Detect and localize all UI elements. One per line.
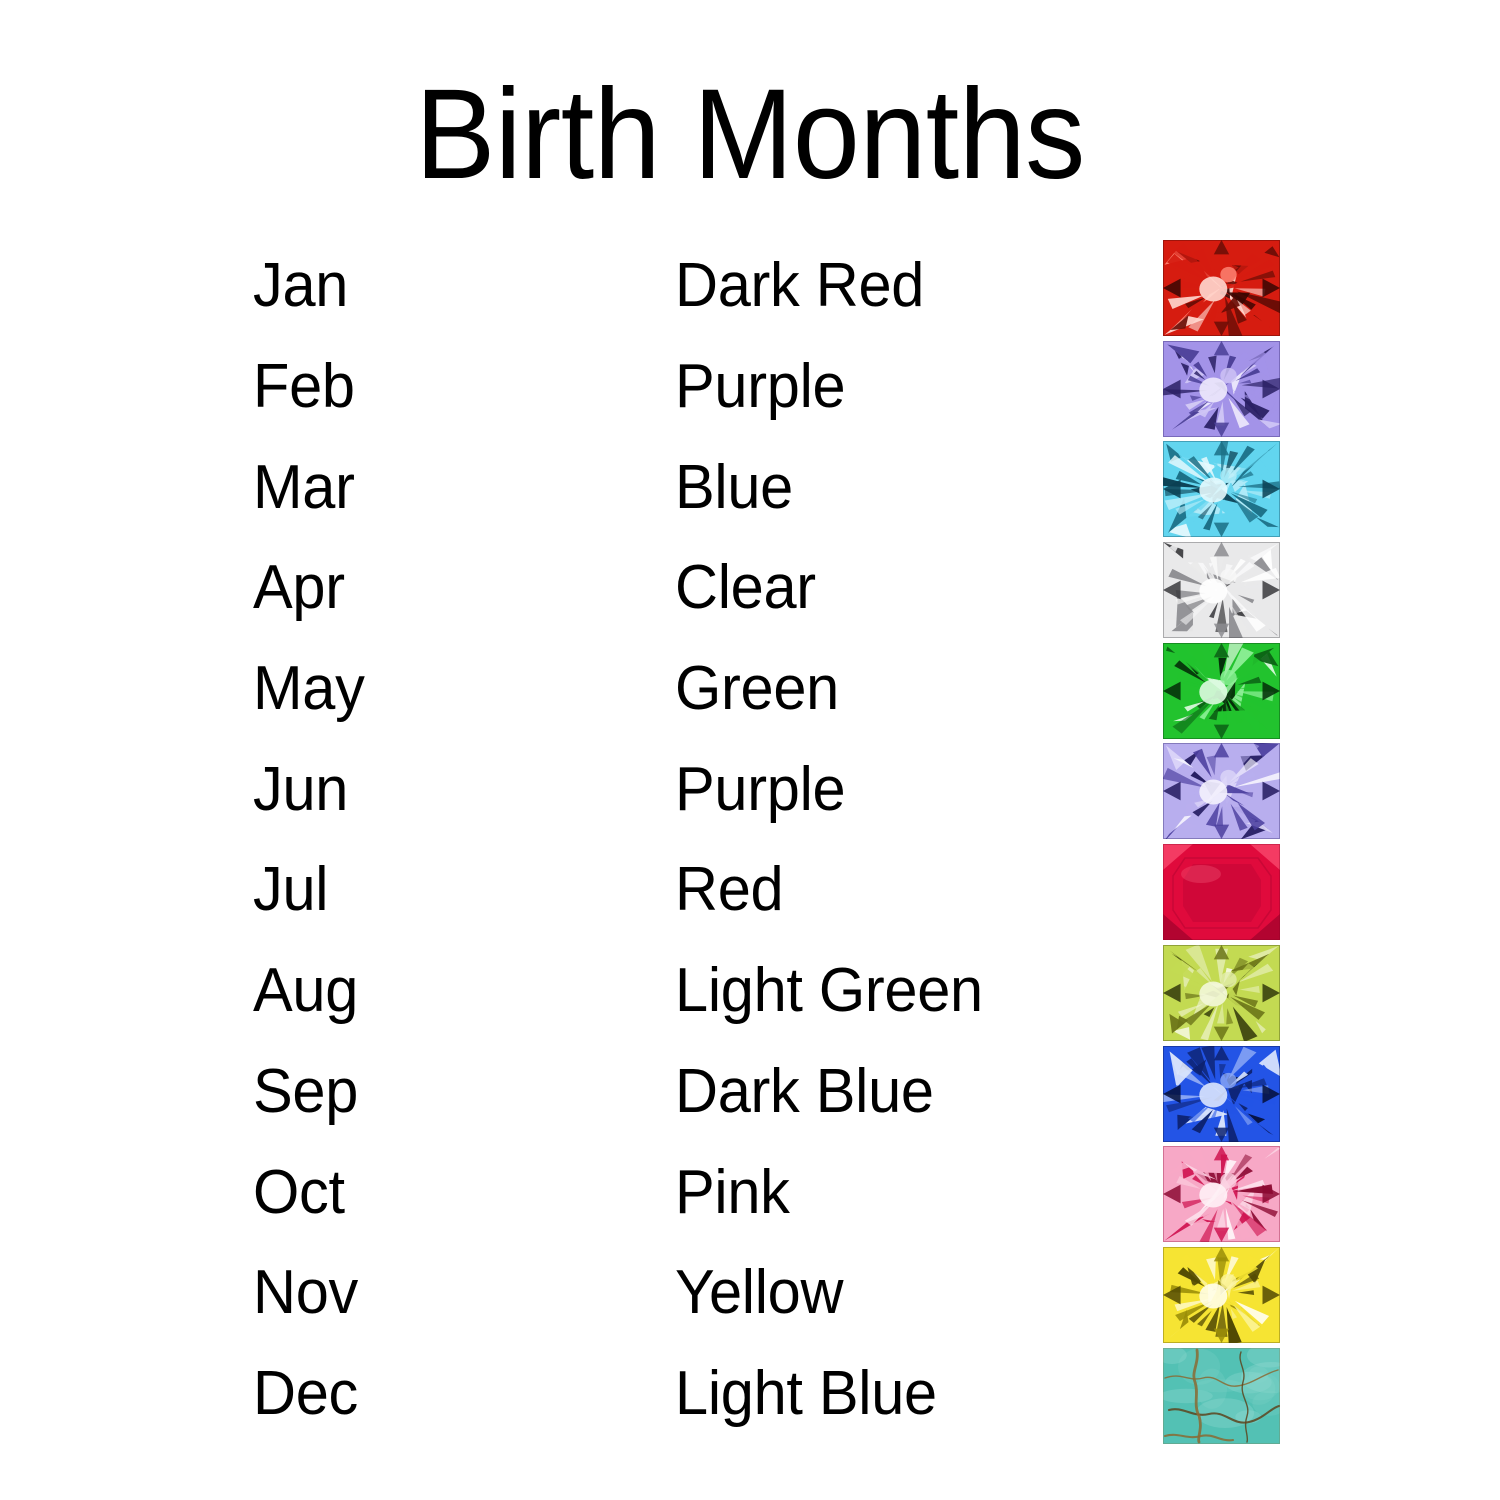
- color-label: Red: [675, 840, 783, 941]
- table-row: MayGreen: [0, 639, 1500, 740]
- table-row: AprClear: [0, 538, 1500, 639]
- table-row: JunPurple: [0, 739, 1500, 840]
- birth-months-table: JanDark RedFebPurpleMarBlueAprClearMayGr…: [0, 236, 1500, 1444]
- month-label: Mar: [253, 437, 355, 538]
- table-row: JulRed: [0, 840, 1500, 941]
- page-title: Birth Months: [45, 68, 1455, 202]
- color-label: Purple: [675, 739, 845, 840]
- month-label: Sep: [253, 1042, 358, 1143]
- citrine-gem-icon: [1163, 1247, 1280, 1343]
- color-label: Dark Blue: [675, 1042, 934, 1143]
- diamond-gem-icon: [1163, 542, 1280, 638]
- emerald-gem-icon: [1163, 643, 1280, 739]
- table-row: FebPurple: [0, 337, 1500, 438]
- month-label: May: [253, 639, 365, 740]
- month-label: Jun: [253, 739, 348, 840]
- aquamarine-gem-icon: [1163, 441, 1280, 537]
- month-label: Feb: [253, 337, 355, 438]
- month-label: Jul: [253, 840, 328, 941]
- table-row: OctPink: [0, 1142, 1500, 1243]
- color-label: Green: [675, 639, 839, 740]
- ruby-gem-icon: [1163, 844, 1280, 940]
- color-label: Clear: [675, 538, 816, 639]
- peridot-gem-icon: [1163, 945, 1280, 1041]
- amethyst-gem-icon: [1163, 341, 1280, 437]
- color-label: Pink: [675, 1142, 790, 1243]
- color-label: Purple: [675, 337, 845, 438]
- table-row: MarBlue: [0, 437, 1500, 538]
- month-label: Nov: [253, 1243, 358, 1344]
- table-row: NovYellow: [0, 1243, 1500, 1344]
- color-label: Yellow: [675, 1243, 843, 1344]
- month-label: Oct: [253, 1142, 345, 1243]
- color-label: Light Blue: [675, 1344, 937, 1445]
- color-label: Blue: [675, 437, 793, 538]
- table-row: SepDark Blue: [0, 1042, 1500, 1143]
- month-label: Apr: [253, 538, 345, 639]
- sapphire-gem-icon: [1163, 1046, 1280, 1142]
- month-label: Jan: [253, 236, 348, 337]
- table-row: JanDark Red: [0, 236, 1500, 337]
- turquoise-gem-icon: [1163, 1348, 1280, 1444]
- garnet-gem-icon: [1163, 240, 1280, 336]
- table-row: DecLight Blue: [0, 1344, 1500, 1445]
- month-label: Dec: [253, 1344, 358, 1445]
- alexandrite-gem-icon: [1163, 743, 1280, 839]
- tourmaline-gem-icon: [1163, 1146, 1280, 1242]
- month-label: Aug: [253, 941, 358, 1042]
- color-label: Light Green: [675, 941, 983, 1042]
- color-label: Dark Red: [675, 236, 924, 337]
- birth-months-page: Birth Months JanDark RedFebPurpleMarBlue…: [0, 0, 1500, 1500]
- table-row: AugLight Green: [0, 941, 1500, 1042]
